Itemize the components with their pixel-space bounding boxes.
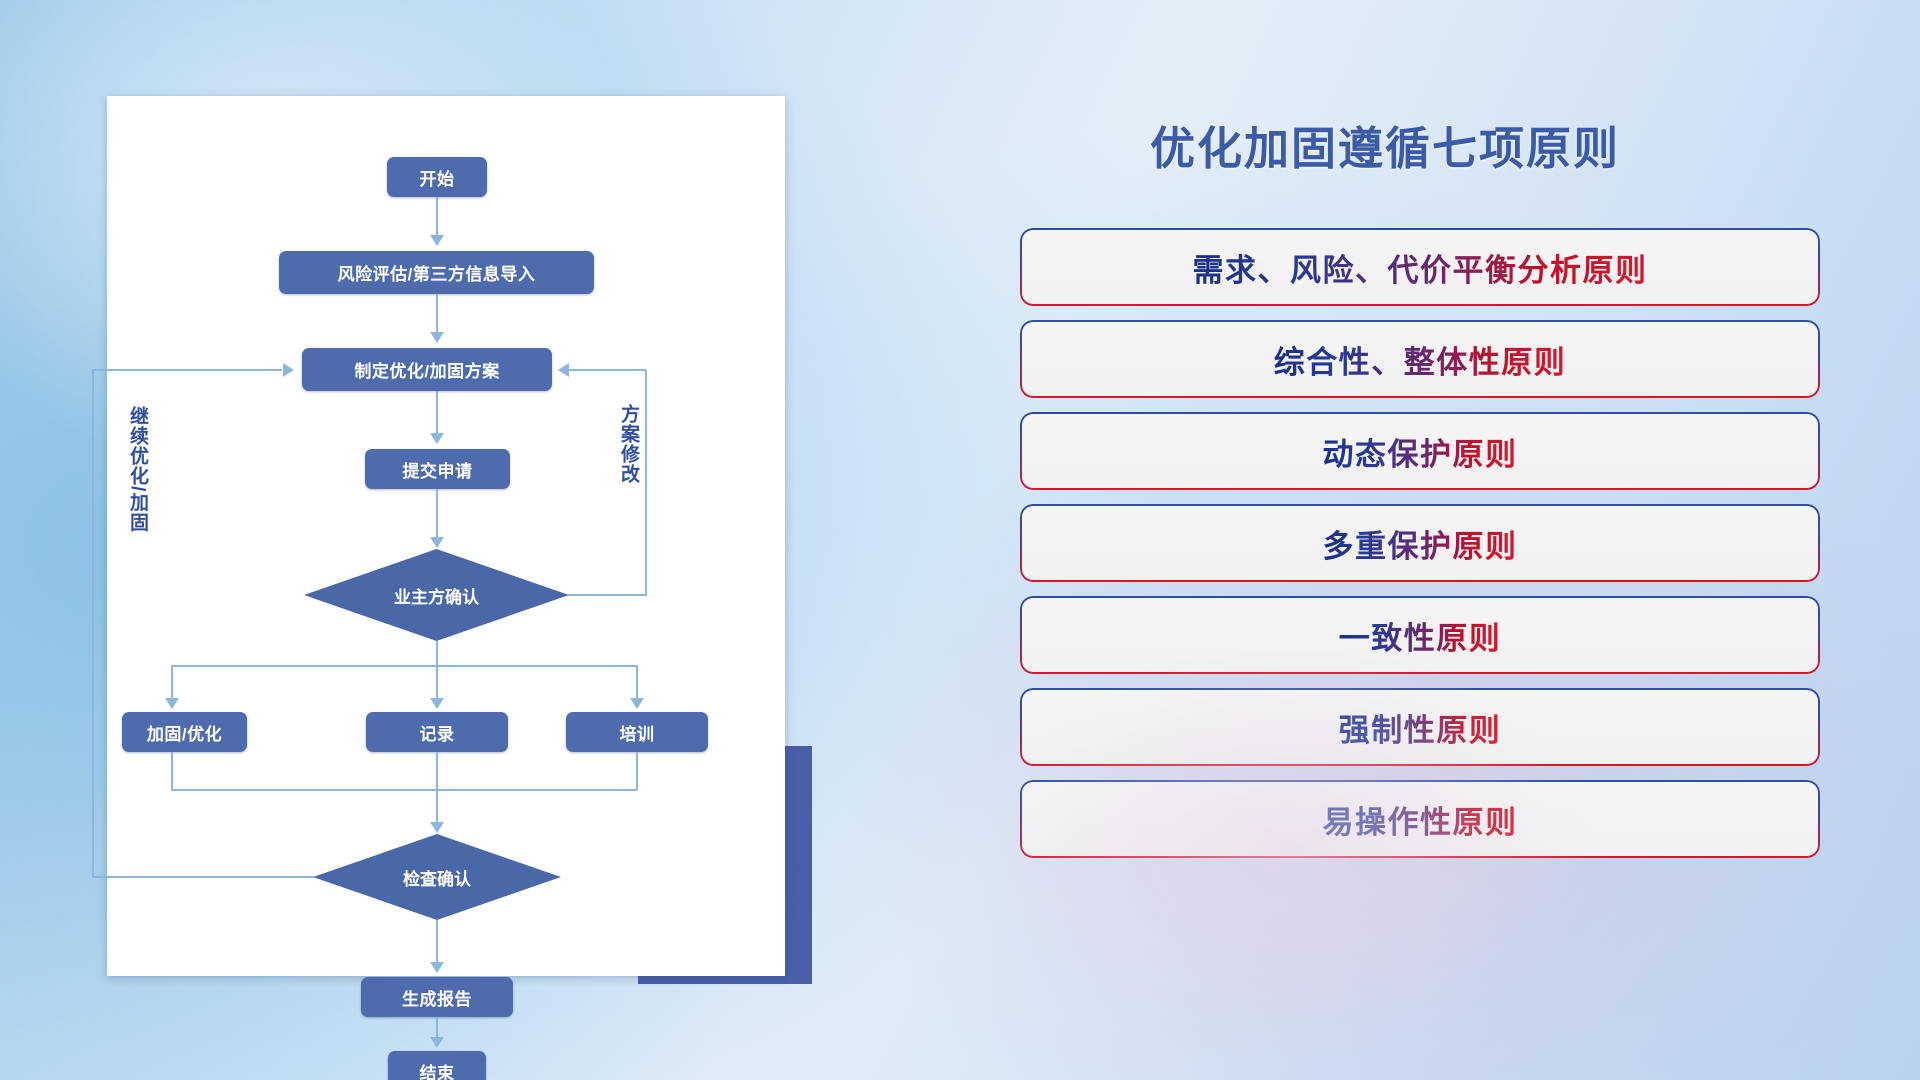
- flow-node-owner-confirm-label: 业主方确认: [394, 583, 479, 608]
- arrow-branch-train: [630, 698, 644, 709]
- flow-node-make-plan[interactable]: 制定优化/加固方案: [302, 348, 552, 391]
- connector-assess-plan: [436, 294, 438, 334]
- connector-right-loop-up: [645, 370, 647, 596]
- arrow-submit-owner: [430, 537, 444, 548]
- connector-reinforce-down: [171, 752, 173, 790]
- principle-card-6[interactable]: 强制性原则: [1020, 688, 1820, 766]
- principles-pane: 优化加固遵循七项原则 需求、风险、代价平衡分析原则 综合性、整体性原则 动态保护…: [1020, 100, 1820, 1000]
- principles-title: 优化加固遵循七项原则: [1150, 112, 1620, 177]
- flow-node-owner-confirm[interactable]: 业主方确认: [304, 549, 569, 641]
- flowchart-canvas: 开始 风险评估/第三方信息导入 制定优化/加固方案 提交申请: [107, 96, 785, 976]
- arrow-branch-record: [430, 698, 444, 709]
- connector-submit-owner: [436, 489, 438, 539]
- flow-node-reinforce-optimize[interactable]: 加固/优化: [122, 712, 247, 752]
- connector-report-end: [436, 1017, 438, 1039]
- principle-label: 综合性、整体性原则: [1274, 337, 1567, 382]
- flow-node-record-label: 记录: [420, 720, 455, 745]
- flow-node-record[interactable]: 记录: [366, 712, 508, 752]
- principle-label: 一致性原则: [1339, 613, 1502, 658]
- connector-branch-bus: [171, 665, 637, 667]
- connector-branch-left-down: [171, 665, 173, 701]
- flow-node-generate-report-label: 生成报告: [402, 985, 472, 1010]
- flow-node-make-plan-label: 制定优化/加固方案: [354, 357, 499, 382]
- principle-card-5[interactable]: 一致性原则: [1020, 596, 1820, 674]
- flow-node-check-confirm-label: 检查确认: [403, 865, 471, 890]
- connector-owner-down: [436, 641, 438, 666]
- flow-node-start-label: 开始: [420, 165, 455, 190]
- principle-label: 动态保护原则: [1323, 429, 1518, 474]
- principle-card-3[interactable]: 动态保护原则: [1020, 412, 1820, 490]
- arrow-assess-plan: [430, 332, 444, 343]
- connector-merge-bus: [171, 789, 637, 791]
- connector-left-loop-in: [92, 369, 282, 371]
- flowchart-card: 开始 风险评估/第三方信息导入 制定优化/加固方案 提交申请: [107, 96, 785, 976]
- flow-node-submit-application-label: 提交申请: [403, 457, 473, 482]
- principle-label: 多重保护原则: [1323, 521, 1518, 566]
- principle-card-2[interactable]: 综合性、整体性原则: [1020, 320, 1820, 398]
- flow-node-start[interactable]: 开始: [387, 157, 487, 197]
- arrow-check-report: [430, 962, 444, 973]
- arrow-merge-check: [430, 822, 444, 833]
- connector-train-down: [636, 752, 638, 790]
- connector-right-loop-in: [569, 369, 646, 371]
- flow-node-end-label: 结束: [420, 1059, 455, 1080]
- connector-branch-right-down: [636, 665, 638, 701]
- connector-record-down: [436, 752, 438, 824]
- flow-node-risk-assessment-label: 风险评估/第三方信息导入: [338, 260, 536, 285]
- arrow-report-end: [430, 1037, 444, 1048]
- edge-label-continue-optimize: 继续优化/加固: [127, 406, 147, 532]
- principles-list: 需求、风险、代价平衡分析原则 综合性、整体性原则 动态保护原则 多重保护原则: [1020, 228, 1820, 872]
- edge-label-plan-revision: 方案修改: [618, 404, 638, 484]
- principle-label: 需求、风险、代价平衡分析原则: [1193, 245, 1648, 290]
- principle-card-7[interactable]: 易操作性原则: [1020, 780, 1820, 858]
- flow-node-generate-report[interactable]: 生成报告: [361, 977, 513, 1017]
- arrow-start-assess: [430, 235, 444, 246]
- slide-canvas: 开始 风险评估/第三方信息导入 制定优化/加固方案 提交申请: [0, 0, 1920, 1080]
- arrow-plan-submit: [430, 433, 444, 444]
- principle-card-1[interactable]: 需求、风险、代价平衡分析原则: [1020, 228, 1820, 306]
- flow-node-reinforce-optimize-label: 加固/优化: [147, 720, 222, 745]
- arrow-left-loop-to-plan: [283, 363, 294, 377]
- flow-node-training-label: 培训: [620, 720, 655, 745]
- flow-node-end[interactable]: 结束: [388, 1051, 486, 1080]
- connector-branch-mid-down: [436, 665, 438, 701]
- arrow-branch-reinforce: [165, 698, 179, 709]
- flow-node-training[interactable]: 培训: [566, 712, 708, 752]
- arrow-right-loop-to-plan: [558, 363, 569, 377]
- connector-owner-right: [568, 594, 646, 596]
- flow-node-submit-application[interactable]: 提交申请: [365, 449, 510, 489]
- principle-label: 强制性原则: [1339, 705, 1502, 750]
- connector-left-loop-up: [92, 370, 94, 877]
- connector-check-left: [92, 876, 314, 878]
- connector-plan-submit: [436, 391, 438, 435]
- principle-label: 易操作性原则: [1323, 797, 1518, 842]
- connector-check-report: [436, 920, 438, 964]
- flow-node-risk-assessment[interactable]: 风险评估/第三方信息导入: [279, 251, 594, 294]
- connector-start-assess: [436, 197, 438, 237]
- flow-node-check-confirm[interactable]: 检查确认: [313, 834, 561, 920]
- principle-card-4[interactable]: 多重保护原则: [1020, 504, 1820, 582]
